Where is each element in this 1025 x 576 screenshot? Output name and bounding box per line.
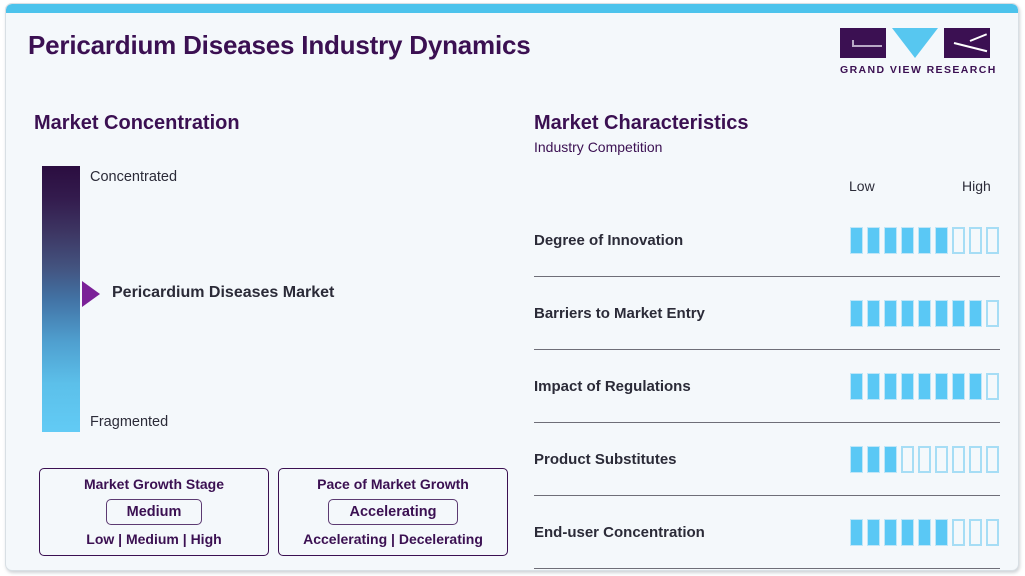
rating-segment-filled: [850, 519, 863, 546]
market-concentration-panel: Market Concentration Concentrated Fragme…: [34, 112, 504, 436]
rating-segment-filled: [850, 300, 863, 327]
rating-segment-filled: [918, 300, 931, 327]
rating-segment-empty: [918, 446, 931, 473]
rating-segment-filled: [867, 300, 880, 327]
rating-segment-filled: [884, 446, 897, 473]
rating-segment-filled: [901, 373, 914, 400]
rating-scale-high-label: High: [962, 178, 991, 194]
rating-segment-empty: [969, 227, 982, 254]
pace-of-market-growth-value: Accelerating: [328, 499, 457, 525]
rating-segment-filled: [867, 519, 880, 546]
rating-segment-filled: [918, 227, 931, 254]
logo-triangle-icon: [892, 28, 938, 58]
scale-label-fragmented: Fragmented: [90, 414, 168, 430]
rating-segment-empty: [969, 519, 982, 546]
rating-segment-filled: [850, 227, 863, 254]
characteristic-label: End-user Concentration: [534, 524, 850, 541]
rating-segment-empty: [952, 519, 965, 546]
rating-segment-filled: [884, 227, 897, 254]
market-growth-stage-options: Low | Medium | High: [86, 531, 221, 547]
characteristic-label: Barriers to Market Entry: [534, 305, 850, 322]
rating-segment-filled: [935, 519, 948, 546]
brand-name: GRAND VIEW RESEARCH: [840, 64, 990, 76]
characteristic-row: Degree of Innovation: [534, 204, 1000, 277]
rating-segment-filled: [969, 300, 982, 327]
rating-segment-empty: [901, 446, 914, 473]
marker-label: Pericardium Diseases Market: [112, 284, 334, 302]
concentration-gradient-bar: [42, 166, 80, 432]
rating-segment-filled: [850, 446, 863, 473]
market-growth-stage-value: Medium: [106, 499, 203, 525]
rating-segment-empty: [935, 446, 948, 473]
rating-segment-filled: [867, 227, 880, 254]
rating-segment-filled: [952, 373, 965, 400]
infographic-card: Pericardium Diseases Industry Dynamics G…: [5, 3, 1019, 571]
rating-segment-filled: [918, 373, 931, 400]
characteristic-row: Product Substitutes: [534, 423, 1000, 496]
brand-logo: GRAND VIEW RESEARCH: [840, 28, 990, 76]
pace-of-market-growth-title: Pace of Market Growth: [317, 476, 469, 492]
rating-segment-filled: [884, 373, 897, 400]
rating-segment-empty: [986, 300, 999, 327]
rating-bars: [850, 519, 999, 546]
rating-segment-empty: [969, 446, 982, 473]
logo-left-block-icon: [840, 28, 886, 58]
top-accent-bar: [6, 4, 1018, 13]
rating-segment-empty: [952, 227, 965, 254]
rating-segment-filled: [901, 300, 914, 327]
rating-segment-filled: [867, 446, 880, 473]
rating-segment-filled: [952, 300, 965, 327]
characteristic-row: Impact of Regulations: [534, 350, 1000, 423]
stage-boxes: Market Growth Stage Medium Low | Medium …: [39, 468, 508, 556]
rating-segment-empty: [986, 519, 999, 546]
market-characteristics-subheading: Industry Competition: [534, 139, 1000, 155]
rating-segment-filled: [935, 300, 948, 327]
characteristic-row: End-user Concentration: [534, 496, 1000, 569]
logo-right-block-icon: [944, 28, 990, 58]
rating-segment-filled: [850, 373, 863, 400]
scale-label-concentrated: Concentrated: [90, 169, 177, 185]
market-characteristics-heading: Market Characteristics: [534, 112, 1000, 135]
pace-of-market-growth-options: Accelerating | Decelerating: [303, 531, 483, 547]
characteristic-label: Impact of Regulations: [534, 378, 850, 395]
rating-segment-filled: [884, 519, 897, 546]
rating-scale-axis: Low High: [534, 178, 1000, 196]
brand-logo-mark: [840, 28, 990, 58]
rating-segment-empty: [986, 446, 999, 473]
marker-triangle-icon: [82, 281, 100, 307]
rating-segment-filled: [901, 519, 914, 546]
rating-bars: [850, 227, 999, 254]
concentration-scale: Concentrated Fragmented Pericardium Dise…: [34, 166, 504, 436]
characteristic-row: Barriers to Market Entry: [534, 277, 1000, 350]
rating-segment-filled: [969, 373, 982, 400]
rating-scale-low-label: Low: [849, 178, 875, 194]
market-concentration-heading: Market Concentration: [34, 112, 504, 135]
rating-bars: [850, 446, 999, 473]
rating-segment-empty: [986, 227, 999, 254]
market-growth-stage-title: Market Growth Stage: [84, 476, 224, 492]
rating-segment-filled: [935, 373, 948, 400]
pace-of-market-growth-box: Pace of Market Growth Accelerating Accel…: [278, 468, 508, 556]
rating-segment-empty: [986, 373, 999, 400]
rating-segment-filled: [867, 373, 880, 400]
rating-bars: [850, 373, 999, 400]
rating-bars: [850, 300, 999, 327]
rating-segment-filled: [901, 227, 914, 254]
characteristic-label: Degree of Innovation: [534, 232, 850, 249]
rating-segment-empty: [952, 446, 965, 473]
rating-segment-filled: [884, 300, 897, 327]
characteristics-rows: Degree of InnovationBarriers to Market E…: [534, 204, 1000, 569]
rating-segment-filled: [918, 519, 931, 546]
rating-segment-filled: [935, 227, 948, 254]
page-title: Pericardium Diseases Industry Dynamics: [28, 30, 531, 61]
characteristic-label: Product Substitutes: [534, 451, 850, 468]
market-growth-stage-box: Market Growth Stage Medium Low | Medium …: [39, 468, 269, 556]
market-characteristics-panel: Market Characteristics Industry Competit…: [534, 112, 1000, 155]
